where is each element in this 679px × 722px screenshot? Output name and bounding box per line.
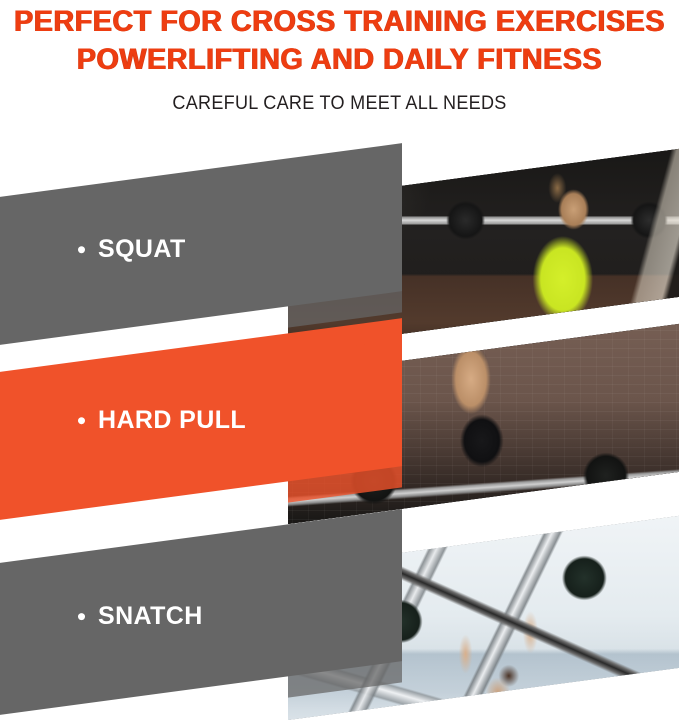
bullet-icon	[78, 613, 85, 620]
feature-row-snatch: SNATCH	[0, 0, 679, 722]
label-snatch-wrap: SNATCH	[78, 602, 203, 631]
infographic-page: PERFECT FOR CROSS TRAINING EXERCISES POW…	[0, 0, 679, 722]
label-snatch: SNATCH	[98, 602, 203, 631]
